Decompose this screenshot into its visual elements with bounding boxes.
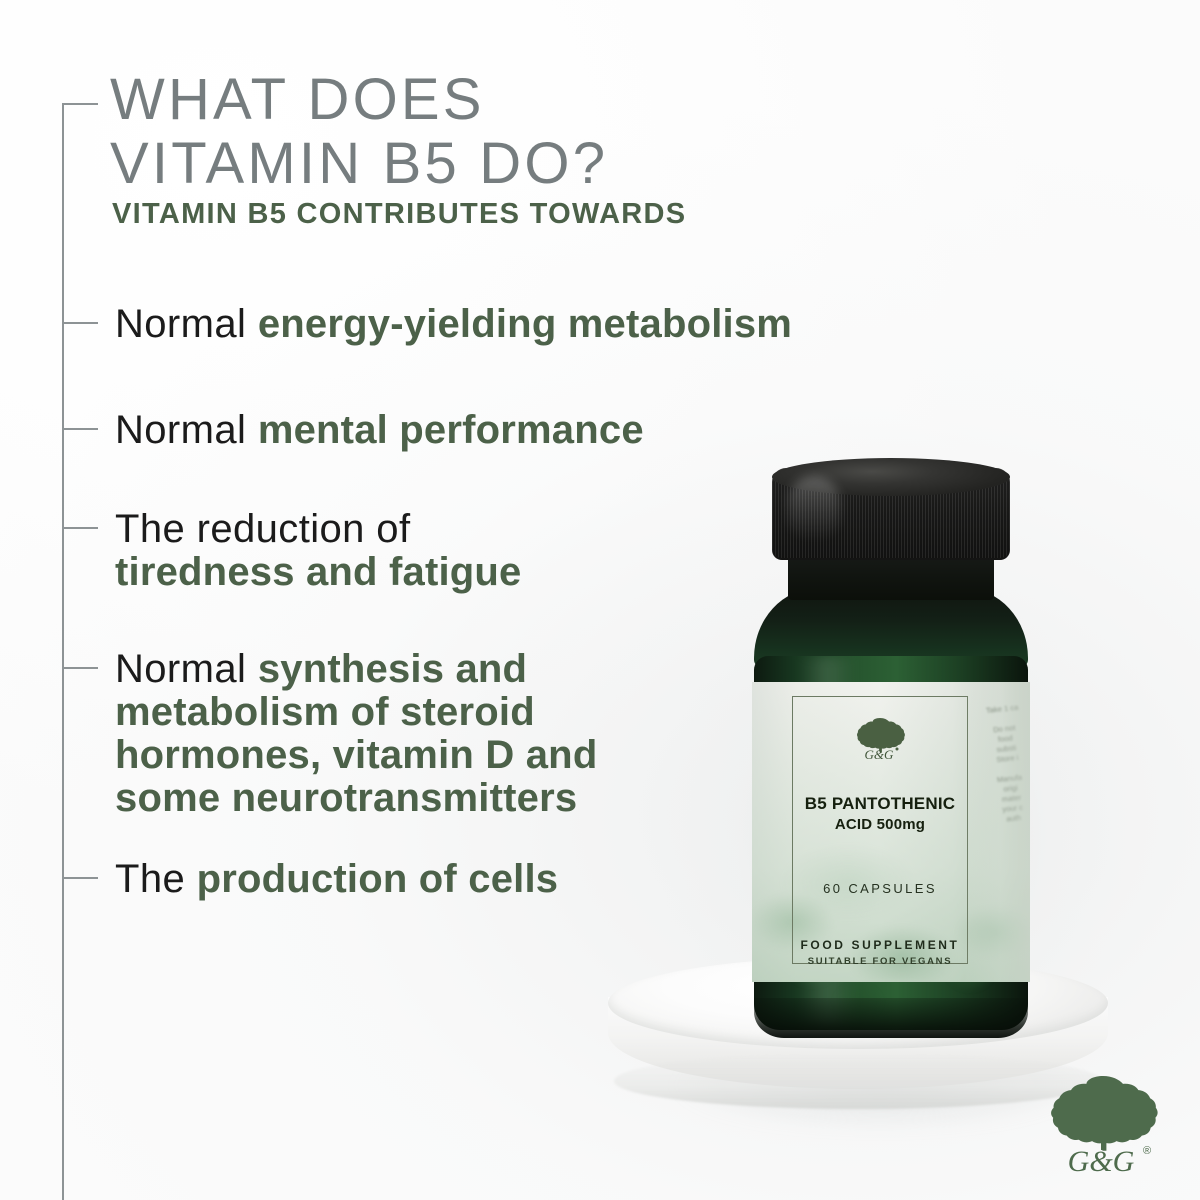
benefit-highlight-text: production of cells: [197, 857, 559, 901]
product-name: B5 PANTOTHENIC: [805, 794, 955, 814]
rail-tick-benefit-1: [62, 322, 98, 324]
benefit-item-1: Normal energy-yielding metabolism: [115, 303, 935, 346]
side-panel-shading: [964, 682, 1030, 982]
product-supplement-label: FOOD SUPPLEMENT: [800, 938, 959, 952]
label-side-directions: Take 1 ca Do not food substi Store i Man…: [964, 682, 1030, 982]
tree-logo-icon: G&G: [855, 716, 905, 760]
svg-text:G&G: G&G: [865, 747, 895, 760]
benefit-plain-text: The: [115, 857, 197, 901]
benefit-line: Normal energy-yielding metabolism: [115, 303, 935, 346]
benefit-highlight-text: tiredness and fatigue: [115, 550, 522, 594]
product-vegan-label: SUITABLE FOR VEGANS: [808, 956, 953, 967]
benefit-highlight-text: energy-yielding metabolism: [258, 302, 792, 346]
rail-tick-title: [62, 103, 98, 105]
brand-tree-logo-icon: G&G ®: [1040, 1072, 1166, 1176]
infographic-canvas: WHAT DOES VITAMIN B5 DO? VITAMIN B5 CONT…: [0, 0, 1200, 1200]
benefit-plain-text: The reduction of: [115, 507, 410, 551]
page-subtitle: VITAMIN B5 CONTRIBUTES TOWARDS: [112, 198, 686, 231]
left-rail-line: [62, 103, 64, 1200]
rail-tick-benefit-3: [62, 527, 98, 529]
svg-text:®: ®: [1143, 1145, 1151, 1157]
brand-watermark: G&G ®: [1040, 1072, 1166, 1176]
page-title: WHAT DOES VITAMIN B5 DO?: [110, 68, 930, 196]
benefit-highlight-text: hormones, vitamin D and: [115, 733, 597, 777]
benefit-plain-text: Normal: [115, 408, 258, 452]
benefit-highlight-text: metabolism of steroid: [115, 690, 535, 734]
benefit-highlight-text: some neurotransmitters: [115, 776, 577, 820]
bottle-cap-highlight: [788, 476, 840, 542]
bottle-base: [754, 998, 1028, 1038]
rail-tick-benefit-5: [62, 877, 98, 879]
benefit-plain-text: Normal: [115, 302, 258, 346]
rail-tick-benefit-2: [62, 428, 98, 430]
rail-tick-benefit-4: [62, 667, 98, 669]
supplement-bottle: G&G B5 PANTOTHENIC ACID 500mg 60 CAPSULE…: [740, 450, 1040, 1050]
product-capsule-count: 60 CAPSULES: [823, 881, 937, 896]
benefit-highlight-text: synthesis and: [258, 647, 527, 691]
bottle-neck: [788, 554, 994, 600]
pedestal-rim: [614, 1053, 1102, 1109]
product-dose: ACID 500mg: [835, 816, 925, 833]
benefit-plain-text: Normal: [115, 647, 258, 691]
svg-text:G&G: G&G: [1068, 1145, 1135, 1176]
